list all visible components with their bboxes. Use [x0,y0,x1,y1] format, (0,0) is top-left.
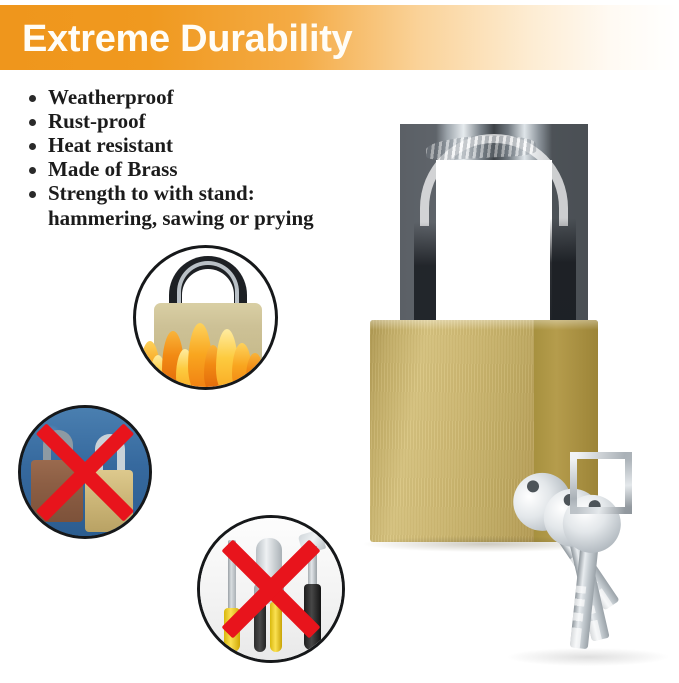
pliers-joint [254,584,284,604]
list-item: Rust-proof [26,110,406,133]
key-ring-icon [570,452,632,514]
feature-label: Weatherproof [48,85,174,109]
bullet-icon [29,95,36,102]
feature-list: Weatherproof Rust-proof Heat resistant M… [26,86,406,230]
product-image-keys [492,452,679,683]
list-item: Made of Brass [26,158,406,181]
keys-shadow [508,648,668,666]
list-item: Weatherproof [26,86,406,109]
bullet-icon [29,119,36,126]
bullet-icon [29,191,36,198]
pliers-grip-left [254,602,266,652]
product-infographic: Extreme Durability Weatherproof Rust-pro… [0,0,679,683]
inset-heat-resistance [133,245,278,390]
inset-rust-image [21,408,149,536]
shackle-right-leg [550,218,576,336]
shackle-left-leg [414,222,436,332]
feature-label: Made of Brass [48,157,178,181]
inset-anti-tamper [197,515,345,663]
padlock-body-bevel [370,320,598,330]
bullet-icon [29,143,36,150]
flame-icon [136,302,275,387]
page-title: Extreme Durability [22,17,352,61]
header-banner: Extreme Durability [0,5,679,70]
list-item: Heat resistant [26,134,406,157]
pliers-icon [256,538,282,590]
key-hole [525,478,542,495]
rusted-padlock-icon [31,460,83,522]
list-item: Strength to with stand: [26,182,406,205]
feature-label: Strength to with stand: [48,181,255,205]
inset-tools-image [200,518,342,660]
screwdriver-icon [228,540,236,612]
pry-bar-shaft [308,546,317,588]
pliers-grip-right [270,602,282,652]
screwdriver-handle [224,608,240,652]
feature-label: Rust-proof [48,109,146,133]
pry-bar-handle [304,584,321,650]
inset-rust-proof [18,405,152,539]
bullet-icon [29,167,36,174]
feature-label: Heat resistant [48,133,173,157]
brass-padlock-icon [85,470,133,532]
feature-continuation: hammering, sawing or prying [26,206,406,230]
inset-heat-image [136,248,275,387]
